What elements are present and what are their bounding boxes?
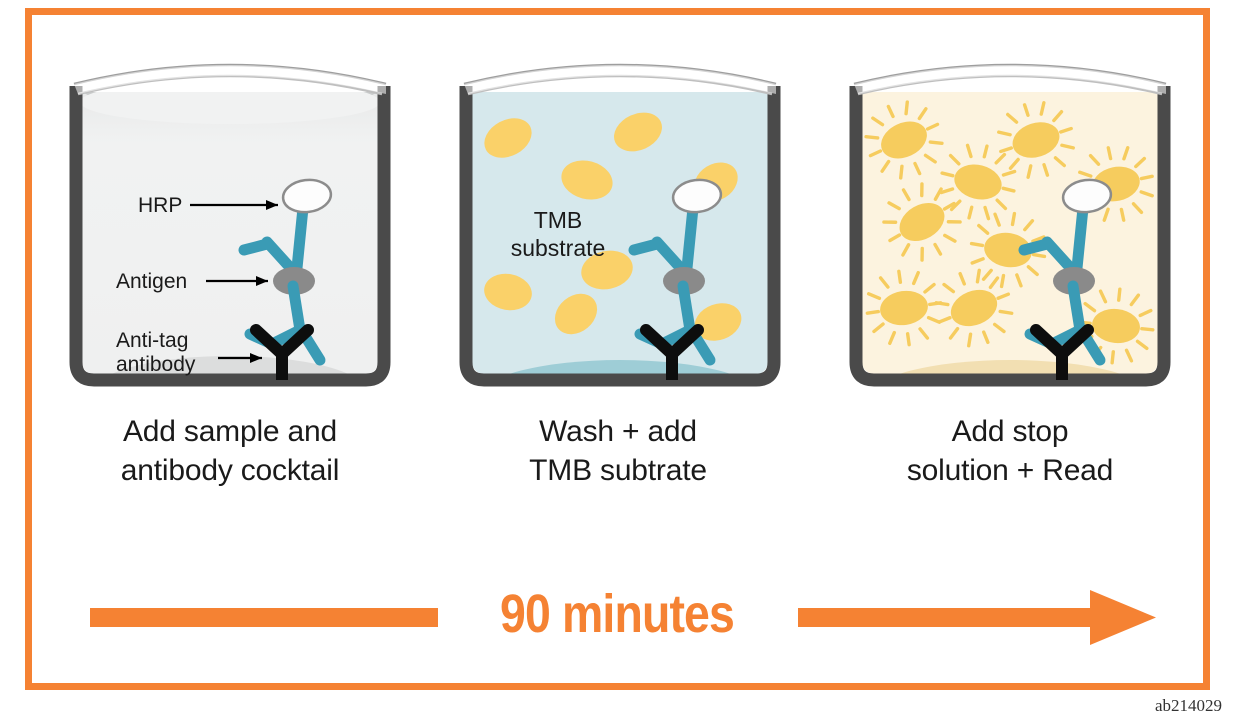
tmb-substrate-label-line2: substrate <box>511 235 606 261</box>
microplate-well-sample: HRP Antigen Anti-tag antibody <box>60 60 400 400</box>
step-1-caption-line1: Add sample and <box>30 412 430 451</box>
tmb-substrate-label-line1: TMB <box>534 207 583 233</box>
step-3-caption: Add stop solution + Read <box>810 412 1210 490</box>
microplate-well-tmb: TMB substrate <box>450 60 790 400</box>
step-2-caption-line1: Wash + add <box>418 412 818 451</box>
elisa-workflow-figure: HRP Antigen Anti-tag antibody <box>0 0 1234 720</box>
anti-tag-antibody-label-line2: antibody <box>116 353 196 376</box>
antigen-label: Antigen <box>116 270 187 293</box>
watermark: ab214029 <box>1155 696 1222 716</box>
step-2-caption: Wash + add TMB subtrate <box>418 412 818 490</box>
step-1-caption: Add sample and antibody cocktail <box>30 412 430 490</box>
well-rim-fill <box>74 65 386 94</box>
microplate-well-stop <box>840 60 1180 400</box>
timeline-duration-label: 90 minutes <box>458 583 776 645</box>
timeline-bar-left <box>90 608 438 627</box>
timeline-bar-right <box>798 608 1098 627</box>
step-1-caption-line2: antibody cocktail <box>30 451 430 490</box>
well-liquid <box>855 60 1162 400</box>
anti-tag-antibody-label-line1: Anti-tag <box>116 329 188 352</box>
step-2-panel: TMB substrate <box>450 60 790 400</box>
step-1-panel: HRP Antigen Anti-tag antibody <box>60 60 400 400</box>
well-rim-fill <box>464 65 776 94</box>
step-3-panel <box>840 60 1180 400</box>
well-liquid <box>468 60 772 400</box>
hrp-label: HRP <box>138 194 182 217</box>
timeline-arrowhead-icon <box>1090 590 1156 645</box>
step-2-caption-line2: TMB subtrate <box>418 451 818 490</box>
step-3-caption-line1: Add stop <box>810 412 1210 451</box>
step-3-caption-line2: solution + Read <box>810 451 1210 490</box>
well-rim-fill <box>854 65 1166 94</box>
